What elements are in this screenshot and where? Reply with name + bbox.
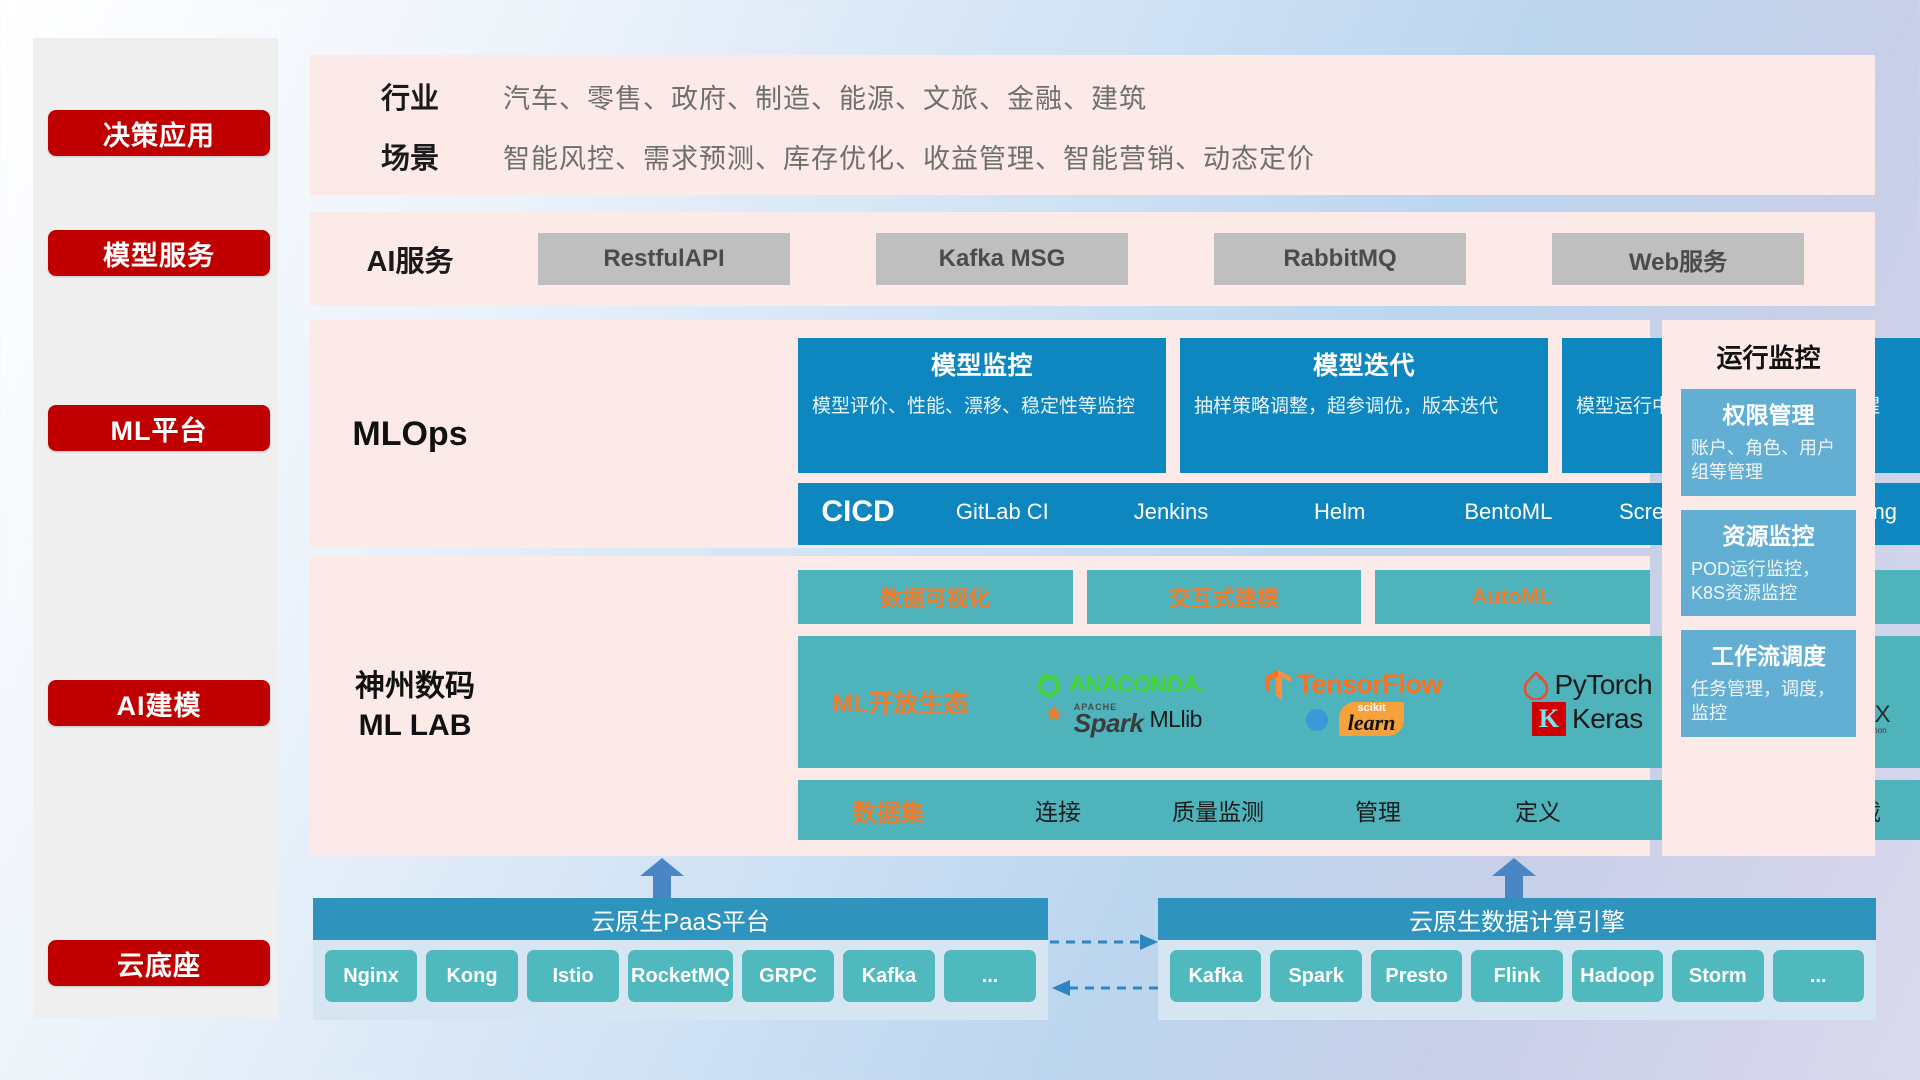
logo-learn-label: learn xyxy=(1348,713,1396,734)
engine-chip-spark[interactable]: Spark xyxy=(1270,950,1361,1002)
monitor-card-permission[interactable]: 权限管理 账户、角色、用户组等管理 xyxy=(1681,389,1856,496)
monitor-card-title: 工作流调度 xyxy=(1691,637,1846,671)
engine-chip-kafka[interactable]: Kafka xyxy=(1170,950,1261,1002)
tool-chip-data-visualization[interactable]: 数据可视化 xyxy=(798,570,1073,624)
ai-service-chip-restfulapi[interactable]: RestfulAPI xyxy=(538,233,790,285)
dataset-item-quality-monitoring[interactable]: 质量监测 xyxy=(1138,793,1298,827)
engine-chip-flink[interactable]: Flink xyxy=(1471,950,1562,1002)
stage-chip-label: ML平台 xyxy=(111,409,208,448)
data-compute-engine-block: 云原生数据计算引擎 Kafka Spark Presto Flink Hadoo… xyxy=(1158,898,1876,1020)
stage-chip-label: AI建模 xyxy=(117,684,202,723)
logo-spark-mllib: APACHE Spark MLlib xyxy=(1038,704,1202,734)
arrow-right-icon xyxy=(1140,934,1158,950)
ml-open-ecosystem-label: ML开放生态 xyxy=(798,684,1003,720)
data-compute-engine-title: 云原生数据计算引擎 xyxy=(1158,898,1876,940)
stage-rail xyxy=(33,38,278,1018)
mlops-card-desc: 抽样策略调整，超参调优，版本迭代 xyxy=(1194,394,1534,421)
keras-icon: K xyxy=(1532,702,1566,736)
ai-service-chip-rabbitmq[interactable]: RabbitMQ xyxy=(1214,233,1466,285)
anaconda-icon xyxy=(1035,671,1063,699)
monitor-card-desc: 账户、角色、用户组等管理 xyxy=(1691,436,1846,485)
tool-chip-interactive-modeling[interactable]: 交互式建模 xyxy=(1087,570,1362,624)
monitor-card-desc: POD运行监控，K8S资源监控 xyxy=(1691,557,1846,606)
paas-chip-more[interactable]: ... xyxy=(944,950,1036,1002)
tool-chip-automl[interactable]: AutoML xyxy=(1375,570,1650,624)
stage-chip-ai-modeling[interactable]: AI建模 xyxy=(48,680,270,726)
logo-anaconda: ANACONDA. xyxy=(1035,671,1205,699)
scikit-learn-icon xyxy=(1303,704,1333,734)
bidirectional-connector xyxy=(1048,930,1160,1002)
ai-modeling-band: 神州数码 ML LAB 数据可视化 交互式建模 AutoML JupyterLa… xyxy=(310,556,1650,856)
monitor-card-title: 权限管理 xyxy=(1691,396,1846,430)
dataset-item-manage[interactable]: 管理 xyxy=(1298,793,1458,827)
dataset-item-define[interactable]: 定义 xyxy=(1458,793,1618,827)
dataset-item-connect[interactable]: 连接 xyxy=(978,793,1138,827)
ai-service-key: AI服务 xyxy=(335,238,485,280)
runtime-monitoring-column: 运行监控 权限管理 账户、角色、用户组等管理 资源监控 POD运行监控，K8S资… xyxy=(1662,320,1875,856)
mlops-card-model-iteration[interactable]: 模型迭代 抽样策略调整，超参调优，版本迭代 xyxy=(1180,338,1548,473)
mlops-card-title: 模型迭代 xyxy=(1194,346,1534,382)
cicd-item-jenkins[interactable]: Jenkins xyxy=(1087,483,1256,524)
logo-keras-label: Keras xyxy=(1572,703,1643,735)
logo-mllib-label: MLlib xyxy=(1150,706,1202,733)
paas-chip-istio[interactable]: Istio xyxy=(527,950,619,1002)
ai-service-chip-web-service[interactable]: Web服务 xyxy=(1552,233,1804,285)
ai-service-chip-kafka-msg[interactable]: Kafka MSG xyxy=(876,233,1128,285)
dataset-label: 数据集 xyxy=(798,793,978,828)
logo-anaconda-label: ANACONDA. xyxy=(1069,671,1205,698)
up-arrow-paas xyxy=(640,858,684,900)
stage-chip-label: 云底座 xyxy=(117,944,201,983)
engine-chip-more[interactable]: ... xyxy=(1773,950,1864,1002)
stage-chip-ml-platform[interactable]: ML平台 xyxy=(48,405,270,451)
logo-keras: K Keras xyxy=(1532,702,1643,736)
mlops-key: MLOps xyxy=(335,320,485,548)
engine-chip-storm[interactable]: Storm xyxy=(1672,950,1763,1002)
decision-value-industry: 汽车、零售、政府、制造、能源、文旅、金融、建筑 xyxy=(503,77,1147,116)
tensorflow-icon xyxy=(1265,670,1291,700)
pytorch-icon xyxy=(1523,670,1549,700)
mlops-card-model-monitoring[interactable]: 模型监控 模型评价、性能、漂移、稳定性等监控 xyxy=(798,338,1166,473)
logo-pytorch-label: PyTorch xyxy=(1555,669,1653,701)
decision-value-scenario: 智能风控、需求预测、库存优化、收益管理、智能营销、动态定价 xyxy=(503,137,1315,176)
decision-application-band: 行业 汽车、零售、政府、制造、能源、文旅、金融、建筑 场景 智能风控、需求预测、… xyxy=(310,55,1875,195)
logo-pytorch: PyTorch xyxy=(1523,669,1653,701)
stage-chip-model-service[interactable]: 模型服务 xyxy=(48,230,270,276)
mlops-band: MLOps 模型监控 模型评价、性能、漂移、稳定性等监控 模型迭代 抽样策略调整… xyxy=(310,320,1650,548)
cicd-title: CICD xyxy=(798,483,918,529)
cicd-item-helm[interactable]: Helm xyxy=(1255,483,1424,524)
decision-row-industry: 行业 汽车、零售、政府、制造、能源、文旅、金融、建筑 xyxy=(310,75,1875,117)
stage-chip-cloud-base[interactable]: 云底座 xyxy=(48,940,270,986)
runtime-monitoring-title: 运行监控 xyxy=(1662,320,1875,375)
stage-chip-label: 模型服务 xyxy=(103,234,215,273)
logo-tensorflow: TensorFlow xyxy=(1265,669,1442,700)
paas-chip-grpc[interactable]: GRPC xyxy=(742,950,834,1002)
mlops-card-desc: 模型评价、性能、漂移、稳定性等监控 xyxy=(812,394,1152,421)
decision-key-scenario: 场景 xyxy=(335,135,485,177)
monitor-card-title: 资源监控 xyxy=(1691,517,1846,551)
paas-platform-block: 云原生PaaS平台 Nginx Kong Istio RocketMQ GRPC… xyxy=(313,898,1048,1020)
decision-key-industry: 行业 xyxy=(335,75,485,117)
architecture-diagram: 决策应用 模型服务 ML平台 AI建模 云底座 行业 汽车、零售、政府、制造、能… xyxy=(0,0,1920,1080)
stage-chip-label: 决策应用 xyxy=(103,114,215,153)
ml-lab-key-line1: 神州数码 xyxy=(355,667,475,706)
ml-lab-key: 神州数码 ML LAB xyxy=(330,556,500,856)
cicd-item-bentoml[interactable]: BentoML xyxy=(1424,483,1593,524)
paas-chip-kong[interactable]: Kong xyxy=(426,950,518,1002)
cicd-item-gitlab-ci[interactable]: GitLab CI xyxy=(918,483,1087,524)
spark-icon xyxy=(1038,704,1068,734)
ai-service-band: AI服务 RestfulAPI Kafka MSG RabbitMQ Web服务 xyxy=(310,212,1875,306)
monitor-card-workflow[interactable]: 工作流调度 任务管理，调度，监控 xyxy=(1681,630,1856,737)
paas-platform-title: 云原生PaaS平台 xyxy=(313,898,1048,940)
logo-spark-label: Spark xyxy=(1074,712,1144,734)
monitor-card-resource[interactable]: 资源监控 POD运行监控，K8S资源监控 xyxy=(1681,510,1856,617)
mlops-card-title: 模型监控 xyxy=(812,346,1152,382)
stage-chip-decision[interactable]: 决策应用 xyxy=(48,110,270,156)
arrow-left-icon xyxy=(1052,980,1070,996)
logo-tensorflow-label: TensorFlow xyxy=(1297,669,1442,700)
up-arrow-data-engine xyxy=(1492,858,1536,900)
ml-lab-key-line2: ML LAB xyxy=(355,706,475,745)
engine-chip-presto[interactable]: Presto xyxy=(1371,950,1462,1002)
decision-row-scenario: 场景 智能风控、需求预测、库存优化、收益管理、智能营销、动态定价 xyxy=(310,135,1875,177)
paas-chip-kafka[interactable]: Kafka xyxy=(843,950,935,1002)
logo-scikit-learn: scikit learn xyxy=(1303,702,1405,736)
engine-chip-hadoop[interactable]: Hadoop xyxy=(1572,950,1663,1002)
paas-chip-nginx[interactable]: Nginx xyxy=(325,950,417,1002)
paas-chip-rocketmq[interactable]: RocketMQ xyxy=(628,950,733,1002)
monitor-card-desc: 任务管理，调度，监控 xyxy=(1691,677,1846,726)
